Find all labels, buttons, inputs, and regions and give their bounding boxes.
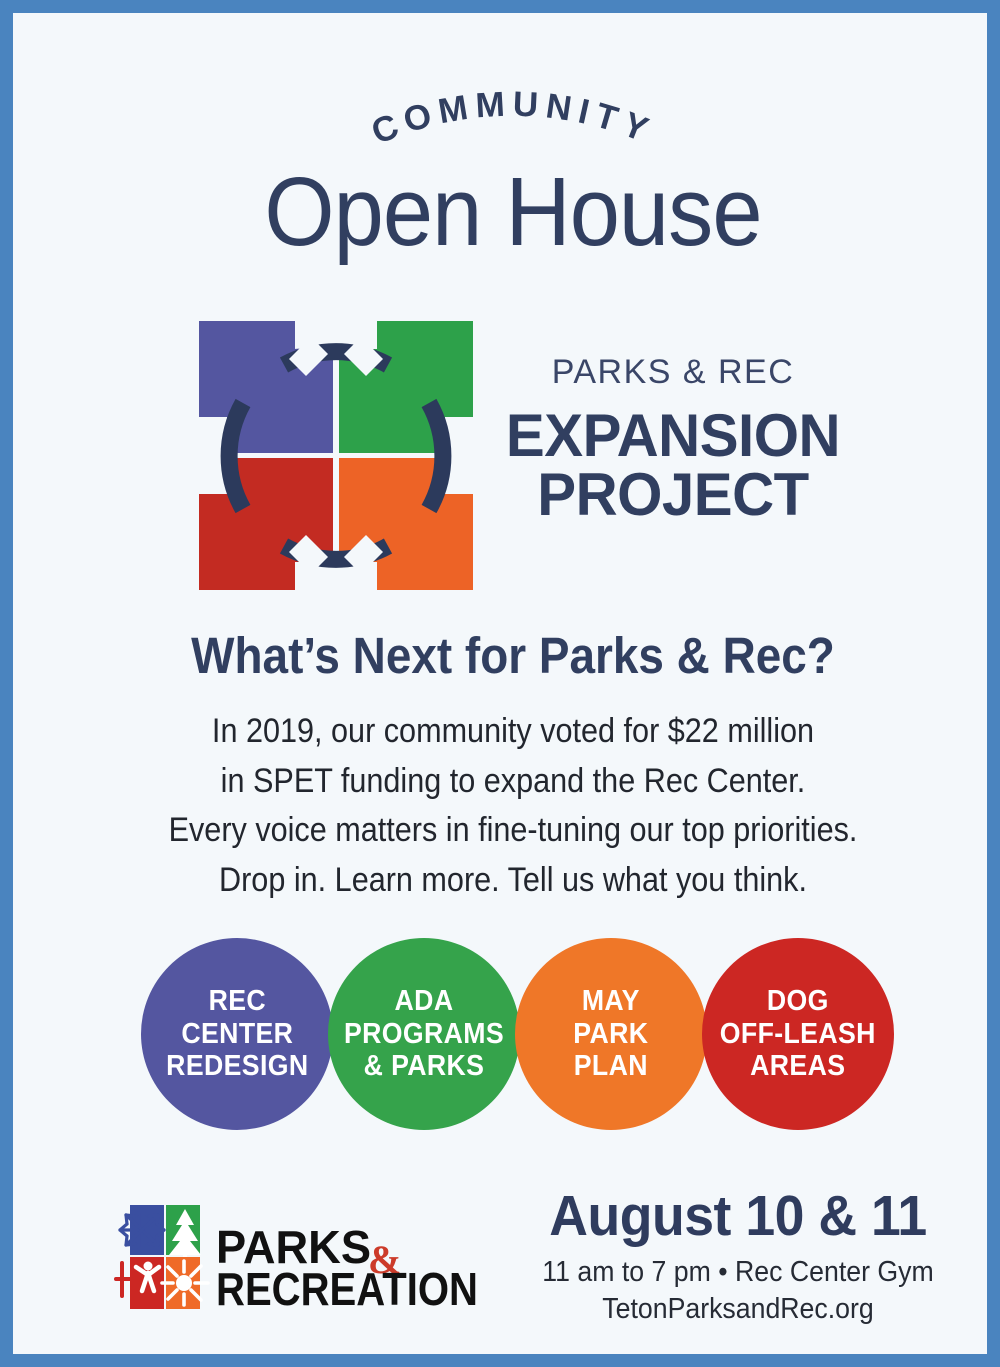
topic-1-line-1: PROGRAMS [344, 1018, 504, 1050]
topic-3-line-0: DOG [720, 985, 876, 1017]
event-details: August 10 & 11 11 am to 7 pm • Rec Cente… [513, 1185, 963, 1326]
topic-2-line-0: MAY [573, 985, 648, 1017]
topic-1-line-2: & PARKS [344, 1050, 504, 1082]
topic-1-line-0: ADA [344, 985, 504, 1017]
topic-circle-ada-programs-parks[interactable]: ADA PROGRAMS & PARKS [328, 938, 520, 1130]
community-arc: COMMUNITY [13, 71, 1000, 163]
parks-recreation-logo: PARKS & RECREATION [108, 1193, 488, 1318]
body-copy: In 2019, our community voted for $22 mil… [63, 707, 963, 906]
topic-3-line-2: AREAS [720, 1050, 876, 1082]
body-line-3: Every voice matters in fine-tuning our t… [63, 806, 963, 856]
poster-inner: COMMUNITY Open House [13, 13, 987, 1354]
parks-recreation-quad-icon [108, 1201, 220, 1313]
event-website[interactable]: TetonParksandRec.org [531, 1293, 945, 1326]
body-line-1: In 2019, our community voted for $22 mil… [63, 707, 963, 757]
parks-recreation-wordmark: PARKS & RECREATION [216, 1221, 486, 1311]
topic-2-line-1: PARK [573, 1018, 648, 1050]
expansion-logo-block: PARKS & REC EXPANSION PROJECT [13, 308, 1000, 608]
event-date: August 10 & 11 [527, 1185, 950, 1248]
page-title: Open House [48, 161, 978, 263]
footer: PARKS & RECREATION August 10 & 11 11 am … [13, 1185, 1000, 1335]
topic-0-line-2: REDESIGN [166, 1050, 308, 1082]
topic-2-line-2: PLAN [573, 1050, 648, 1082]
community-kicker-text: COMMUNITY [366, 84, 660, 152]
event-time-location: 11 am to 7 pm • Rec Center Gym [531, 1256, 945, 1289]
topic-0-line-0: REC [166, 985, 308, 1017]
wordmark-recreation: RECREATION [216, 1263, 478, 1311]
section-heading: What’s Next for Parks & Rec? [63, 626, 963, 685]
topic-circle-may-park-plan[interactable]: MAY PARK PLAN [515, 938, 707, 1130]
expansion-wordmark: PARKS & REC EXPANSION PROJECT [483, 353, 863, 525]
svg-text:COMMUNITY: COMMUNITY [366, 84, 660, 152]
poster: COMMUNITY Open House [0, 0, 1000, 1367]
expansion-line-1: EXPANSION [489, 406, 858, 465]
topic-circles: REC CENTER REDESIGN ADA PROGRAMS & PARKS… [13, 938, 1000, 1138]
parks-rec-kicker: PARKS & REC [483, 353, 863, 392]
topic-circle-dog-off-leash-areas[interactable]: DOG OFF-LEASH AREAS [702, 938, 894, 1130]
expansion-line-2: PROJECT [489, 465, 858, 524]
body-line-2: in SPET funding to expand the Rec Center… [63, 757, 963, 807]
sun-icon [162, 1261, 208, 1305]
body-line-4: Drop in. Learn more. Tell us what you th… [63, 856, 963, 906]
topic-circle-rec-center-redesign[interactable]: REC CENTER REDESIGN [141, 938, 333, 1130]
expansion-arrows-icon [191, 313, 481, 598]
topic-0-line-1: CENTER [166, 1018, 308, 1050]
topic-3-line-1: OFF-LEASH [720, 1018, 876, 1050]
